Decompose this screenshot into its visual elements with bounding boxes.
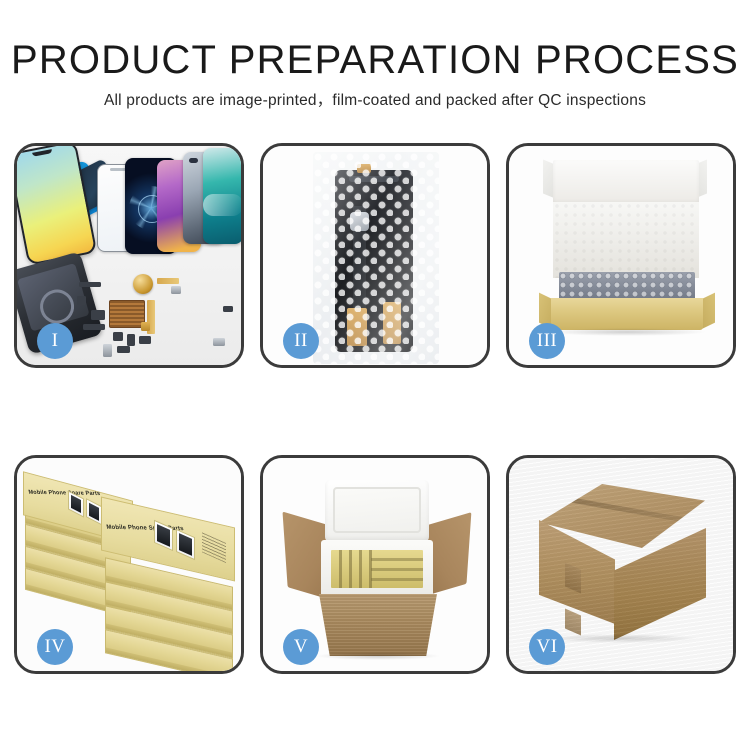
- small-part: [213, 338, 225, 346]
- panel-open-kraft-box[interactable]: III: [506, 143, 736, 368]
- process-panel-grid: I II: [0, 0, 750, 750]
- styrofoam-lid: [325, 480, 429, 542]
- panel-badge-2: II: [283, 323, 319, 359]
- panel-badge-5: V: [283, 629, 319, 665]
- box-window: [154, 520, 173, 551]
- panel-sealed-carton[interactable]: VI: [506, 455, 736, 674]
- drop-shadow: [547, 328, 707, 336]
- small-part: [157, 278, 179, 284]
- packed-kraft-boxes: [331, 550, 423, 588]
- small-part: [117, 346, 130, 353]
- panel-badge-3: III: [529, 323, 565, 359]
- small-part: [141, 322, 150, 331]
- small-part: [79, 282, 101, 287]
- panel-badge-1: I: [37, 323, 73, 359]
- gold-component-disc: [133, 274, 153, 294]
- small-part: [223, 306, 233, 312]
- small-part: [139, 336, 151, 344]
- chip-grid-component: [109, 300, 145, 328]
- small-part: [127, 334, 135, 346]
- small-part: [91, 310, 105, 320]
- bubble-wrap-package: [313, 152, 439, 364]
- small-part: [113, 332, 123, 341]
- camera-module-icon: [189, 158, 198, 163]
- teal-phone-display: [203, 148, 241, 244]
- plastic-sheen: [313, 152, 439, 364]
- panel-carton-with-foam[interactable]: V: [260, 455, 490, 674]
- styrofoam-lid-rim: [333, 487, 421, 533]
- panel-stacked-retail-boxes[interactable]: Mobile Phone Spare Parts Mobile Phone Sp…: [14, 455, 244, 674]
- box-window: [176, 529, 195, 560]
- box-window: [86, 498, 102, 525]
- corrugated-texture: [311, 594, 445, 656]
- drop-shadow: [315, 652, 441, 660]
- foam-lid-panel: [553, 160, 699, 204]
- box-label-text: Mobile Phone Spare Parts: [28, 490, 101, 498]
- drop-shadow: [543, 634, 699, 643]
- notch-icon: [32, 149, 52, 157]
- small-part: [83, 324, 105, 330]
- box-spec-lines: [202, 532, 226, 563]
- small-part: [171, 286, 181, 294]
- panel-badge-4: IV: [37, 629, 73, 665]
- screen-swoosh: [203, 194, 241, 216]
- panel-badge-6: VI: [529, 629, 565, 665]
- panel-parts-overview[interactable]: I: [14, 143, 244, 368]
- foam-texture: [553, 202, 699, 278]
- small-part: [103, 344, 112, 357]
- small-part: [77, 296, 86, 305]
- kraft-box-front-wall: [551, 298, 703, 330]
- panel-bubble-wrapped-screen[interactable]: II: [260, 143, 490, 368]
